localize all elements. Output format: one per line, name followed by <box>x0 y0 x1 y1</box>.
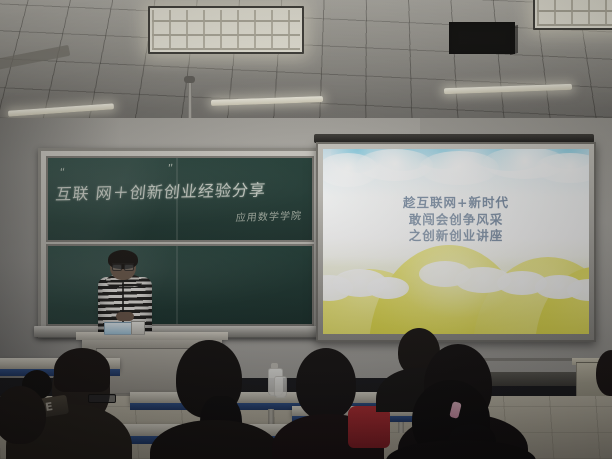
red-backpack <box>348 406 390 448</box>
ceiling-cavity-icon <box>449 22 515 54</box>
audience-head <box>0 386 46 444</box>
slide-line-3: 之创新创业讲座 <box>323 228 589 245</box>
small-white-box <box>131 321 145 335</box>
cloud-shape <box>535 153 589 183</box>
water-bottle <box>274 376 287 398</box>
blackboard-department: 应用数学学院 <box>235 207 303 224</box>
podium-top-surface <box>76 332 228 340</box>
slide-line-1: 趁互联网+新时代 <box>323 195 589 212</box>
projector-hotspot <box>397 238 519 319</box>
bottle-cap <box>271 363 278 369</box>
speaker-hands <box>116 312 134 321</box>
projection-screen-frame: 趁互联网+新时代 敢闯会创争风采 之创新创业讲座 <box>316 142 596 342</box>
ceiling <box>0 0 612 128</box>
audience-head <box>296 348 356 420</box>
panel-light-icon <box>148 6 304 54</box>
projection-screen: 趁互联网+新时代 敢闯会创争风采 之创新创业讲座 <box>323 149 589 334</box>
chalk-quote-close: ” <box>167 162 174 176</box>
blackboard-lower-panel <box>46 244 314 326</box>
audience-glasses <box>88 394 116 403</box>
ceiling-cavity-edge <box>510 25 518 55</box>
classroom-photo: “ ” 互联 网＋创新创业经验分享 应用数学学院 <box>0 0 612 459</box>
blackboard-upper-panel: “ ” 互联 网＋创新创业经验分享 应用数学学院 <box>46 156 314 242</box>
blackboard-seam <box>176 246 178 324</box>
projector-mount-bracket <box>184 76 195 83</box>
audience-hair <box>54 348 110 392</box>
speaker-glasses <box>112 263 134 270</box>
chalk-quote-open: “ <box>59 166 66 180</box>
slide-line-2: 敢闯会创争风采 <box>323 212 589 229</box>
slide-title-block: 趁互联网+新时代 敢闯会创争风采 之创新创业讲座 <box>323 195 589 245</box>
blackboard: “ ” 互联 网＋创新创业经验分享 应用数学学院 <box>38 148 322 338</box>
blackboard-sheen <box>48 246 312 324</box>
chalk-box <box>104 322 132 335</box>
panel-light-icon <box>533 0 612 30</box>
